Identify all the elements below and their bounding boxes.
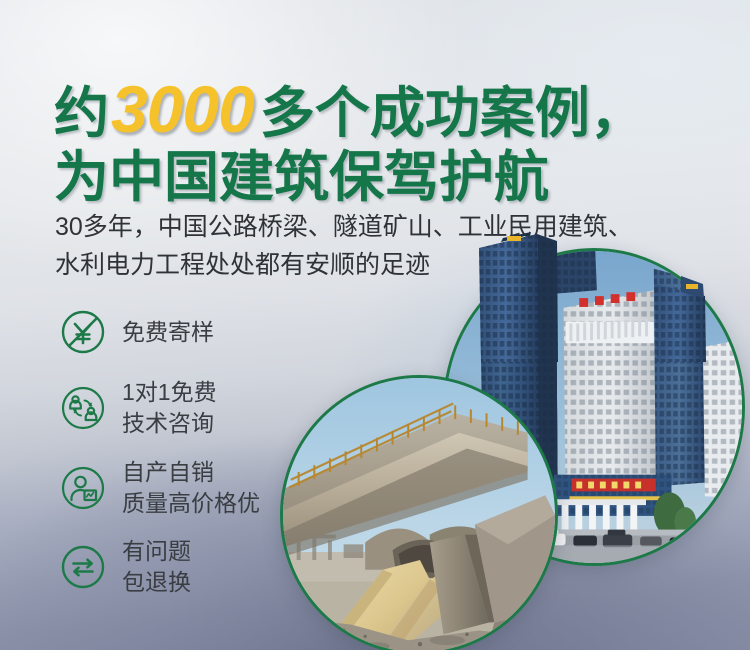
feature-label: 免费寄样 <box>122 317 214 348</box>
feature-label: 自产自销 质量高价格优 <box>122 457 260 518</box>
headline-suffix: 多个成功案例， <box>260 82 645 144</box>
two-people-exchange-icon <box>58 383 108 433</box>
headline-prefix: 约 <box>54 82 109 144</box>
promo-banner: 约3000多个成功案例， 为中国建筑保驾护航 30多年，中国公路桥梁、隧道矿山、… <box>0 0 750 650</box>
exchange-arrows-icon <box>58 542 108 592</box>
headline-line-2: 为中国建筑保驾护航 <box>54 150 714 205</box>
concrete-viaduct-bridge-photo <box>280 375 558 650</box>
headline-block: 约3000多个成功案例， 为中国建筑保驾护航 <box>54 76 714 205</box>
feature-line-1: 免费寄样 <box>122 319 214 345</box>
no-yen-free-sample-icon <box>58 307 108 357</box>
feature-line-2: 技术咨询 <box>122 408 217 439</box>
headline-number: 3000 <box>111 72 254 146</box>
feature-line-1: 1对1免费 <box>122 377 217 408</box>
feature-label: 有问题 包退换 <box>122 536 191 597</box>
feature-line-1: 自产自销 <box>122 457 260 488</box>
headline-line-1: 约3000多个成功案例， <box>54 76 714 142</box>
feature-item-free-sample: 免费寄样 <box>58 296 358 368</box>
person-chart-icon <box>58 463 108 513</box>
feature-line-2: 包退换 <box>122 567 191 598</box>
subtitle-line-1: 30多年，中国公路桥梁、隧道矿山、工业民用建筑、 <box>55 208 725 246</box>
feature-label: 1对1免费 技术咨询 <box>122 377 217 438</box>
feature-line-2: 质量高价格优 <box>122 488 260 519</box>
feature-line-1: 有问题 <box>122 536 191 567</box>
